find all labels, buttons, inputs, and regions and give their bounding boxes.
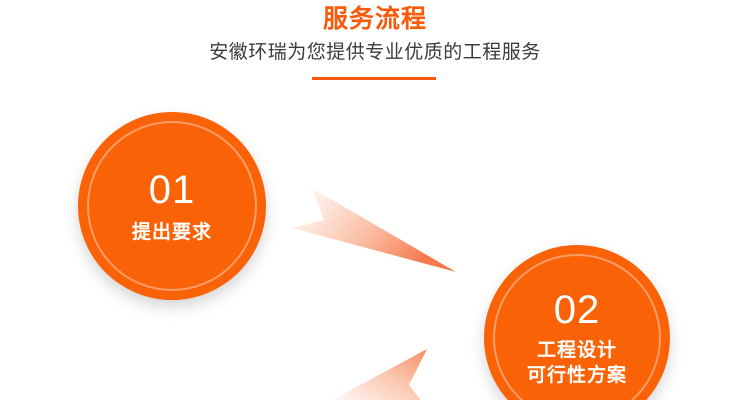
arrow-step-1-to-2-icon: [290, 182, 465, 282]
step-number-01: 01: [149, 168, 196, 212]
step-label-02-line-2: 可行性方案: [527, 363, 627, 388]
service-process-banner: 服务流程 安徽环瑞为您提供专业优质的工程服务 01: [0, 0, 750, 400]
step-number-02: 02: [554, 288, 601, 332]
page-title: 服务流程: [0, 0, 750, 34]
title-divider: [312, 77, 436, 80]
step-label-02-line-1: 工程设计: [537, 338, 617, 363]
arrow-step-2-to-3-icon: [325, 345, 455, 400]
step-label-01: 提出要求: [132, 220, 212, 245]
step-circle-01[interactable]: 01 提出要求: [78, 112, 266, 300]
page-subtitle: 安徽环瑞为您提供专业优质的工程服务: [0, 34, 750, 66]
step-circle-02[interactable]: 02 工程设计 可行性方案: [484, 245, 670, 400]
header: 服务流程 安徽环瑞为您提供专业优质的工程服务: [0, 0, 750, 66]
